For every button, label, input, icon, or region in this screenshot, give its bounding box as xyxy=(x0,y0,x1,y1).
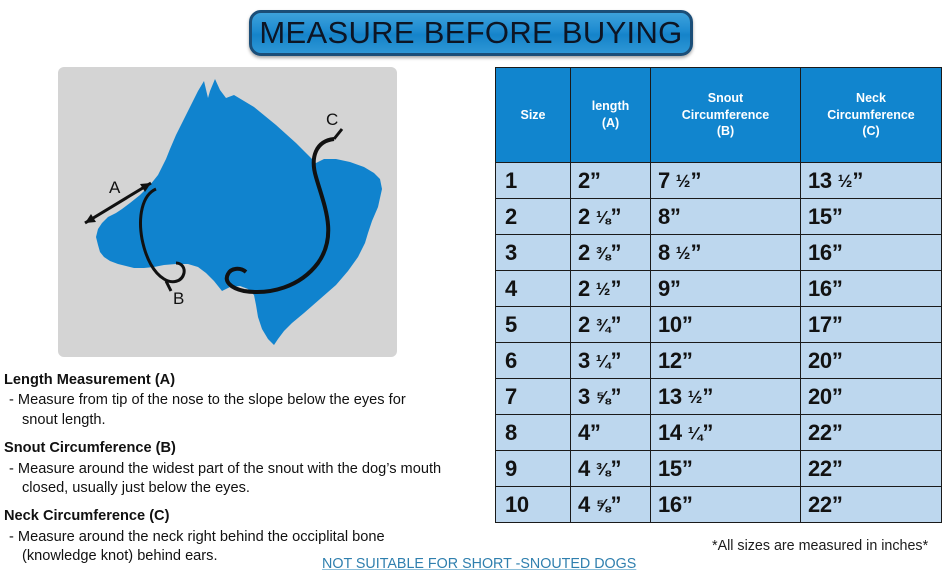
cell-size: 8 xyxy=(496,415,571,451)
table-row: 22 ⅛”8”15” xyxy=(496,199,942,235)
table-row: 94 ⅜”15”22” xyxy=(496,451,942,487)
column-header-length: length (A) xyxy=(571,68,651,163)
column-header-snout-circumference: Snout Circumference (B) xyxy=(651,68,801,163)
cell-neck-circumference: 22” xyxy=(801,451,942,487)
cell-size: 10 xyxy=(496,487,571,523)
table-body: 12”7 ½”13 ½”22 ⅛”8”15”32 ⅜”8 ½”16”42 ½”9… xyxy=(496,163,942,523)
cell-size: 6 xyxy=(496,343,571,379)
cell-snout-circumference: 10” xyxy=(651,307,801,343)
not-suitable-note: NOT SUITABLE FOR SHORT -SNOUTED DOGS xyxy=(322,556,636,572)
cell-neck-circumference: 20” xyxy=(801,343,942,379)
label-b: B xyxy=(173,289,184,308)
table-row: 52 ¾”10”17” xyxy=(496,307,942,343)
cell-length: 4 ⅝” xyxy=(571,487,651,523)
cell-neck-circumference: 17” xyxy=(801,307,942,343)
instruction-heading-neck: Neck Circumference (C) xyxy=(4,507,492,526)
label-c: C xyxy=(326,110,338,129)
instruction-heading-snout: Snout Circumference (B) xyxy=(4,439,492,458)
cell-snout-circumference: 15” xyxy=(651,451,801,487)
cell-snout-circumference: 7 ½” xyxy=(651,163,801,199)
table-row: 73 ⅝”13 ½”20” xyxy=(496,379,942,415)
dog-diagram-panel: A B C xyxy=(58,67,397,357)
measurement-instructions: Length Measurement (A) - Measure from ti… xyxy=(4,371,492,567)
cell-size: 7 xyxy=(496,379,571,415)
cell-size: 3 xyxy=(496,235,571,271)
all-sizes-note: *All sizes are measured in inches* xyxy=(712,538,928,554)
table-row: 42 ½”9”16” xyxy=(496,271,942,307)
cell-size: 4 xyxy=(496,271,571,307)
table-header-row: Size length (A) Snout Circumference (B) … xyxy=(496,68,942,163)
cell-length: 2 ⅛” xyxy=(571,199,651,235)
table-row: 12”7 ½”13 ½” xyxy=(496,163,942,199)
cell-neck-circumference: 13 ½” xyxy=(801,163,942,199)
cell-snout-circumference: 13 ½” xyxy=(651,379,801,415)
cell-length: 2 ½” xyxy=(571,271,651,307)
cell-length: 3 ⅝” xyxy=(571,379,651,415)
cell-size: 1 xyxy=(496,163,571,199)
dog-head-diagram: A B C xyxy=(58,67,397,357)
page-title: MEASURE BEFORE BUYING xyxy=(259,15,682,51)
cell-size: 9 xyxy=(496,451,571,487)
cell-snout-circumference: 8 ½” xyxy=(651,235,801,271)
cell-size: 5 xyxy=(496,307,571,343)
cell-neck-circumference: 16” xyxy=(801,271,942,307)
cell-length: 4 ⅜” xyxy=(571,451,651,487)
dog-head-silhouette xyxy=(96,79,382,345)
table-row: 63 ¼”12”20” xyxy=(496,343,942,379)
cell-neck-circumference: 22” xyxy=(801,487,942,523)
title-banner: MEASURE BEFORE BUYING xyxy=(249,10,693,56)
size-chart-table: Size length (A) Snout Circumference (B) … xyxy=(495,67,942,523)
cell-neck-circumference: 16” xyxy=(801,235,942,271)
cell-length: 3 ¼” xyxy=(571,343,651,379)
cell-snout-circumference: 9” xyxy=(651,271,801,307)
measurement-loop-c-hook xyxy=(334,129,342,139)
column-header-neck-circumference: Neck Circumference (C) xyxy=(801,68,942,163)
cell-length: 2 ¾” xyxy=(571,307,651,343)
instruction-body-length: - Measure from tip of the nose to the sl… xyxy=(4,391,492,430)
table-row: 104 ⅝”16”22” xyxy=(496,487,942,523)
cell-length: 2 ⅜” xyxy=(571,235,651,271)
cell-snout-circumference: 8” xyxy=(651,199,801,235)
cell-neck-circumference: 20” xyxy=(801,379,942,415)
cell-neck-circumference: 22” xyxy=(801,415,942,451)
table-row: 32 ⅜”8 ½”16” xyxy=(496,235,942,271)
cell-snout-circumference: 16” xyxy=(651,487,801,523)
cell-neck-circumference: 15” xyxy=(801,199,942,235)
table-row: 84”14 ¼”22” xyxy=(496,415,942,451)
instruction-body-snout: - Measure around the widest part of the … xyxy=(4,460,492,499)
label-a: A xyxy=(109,178,121,197)
cell-snout-circumference: 14 ¼” xyxy=(651,415,801,451)
instruction-heading-length: Length Measurement (A) xyxy=(4,371,492,390)
cell-length: 2” xyxy=(571,163,651,199)
cell-snout-circumference: 12” xyxy=(651,343,801,379)
column-header-size: Size xyxy=(496,68,571,163)
cell-length: 4” xyxy=(571,415,651,451)
cell-size: 2 xyxy=(496,199,571,235)
